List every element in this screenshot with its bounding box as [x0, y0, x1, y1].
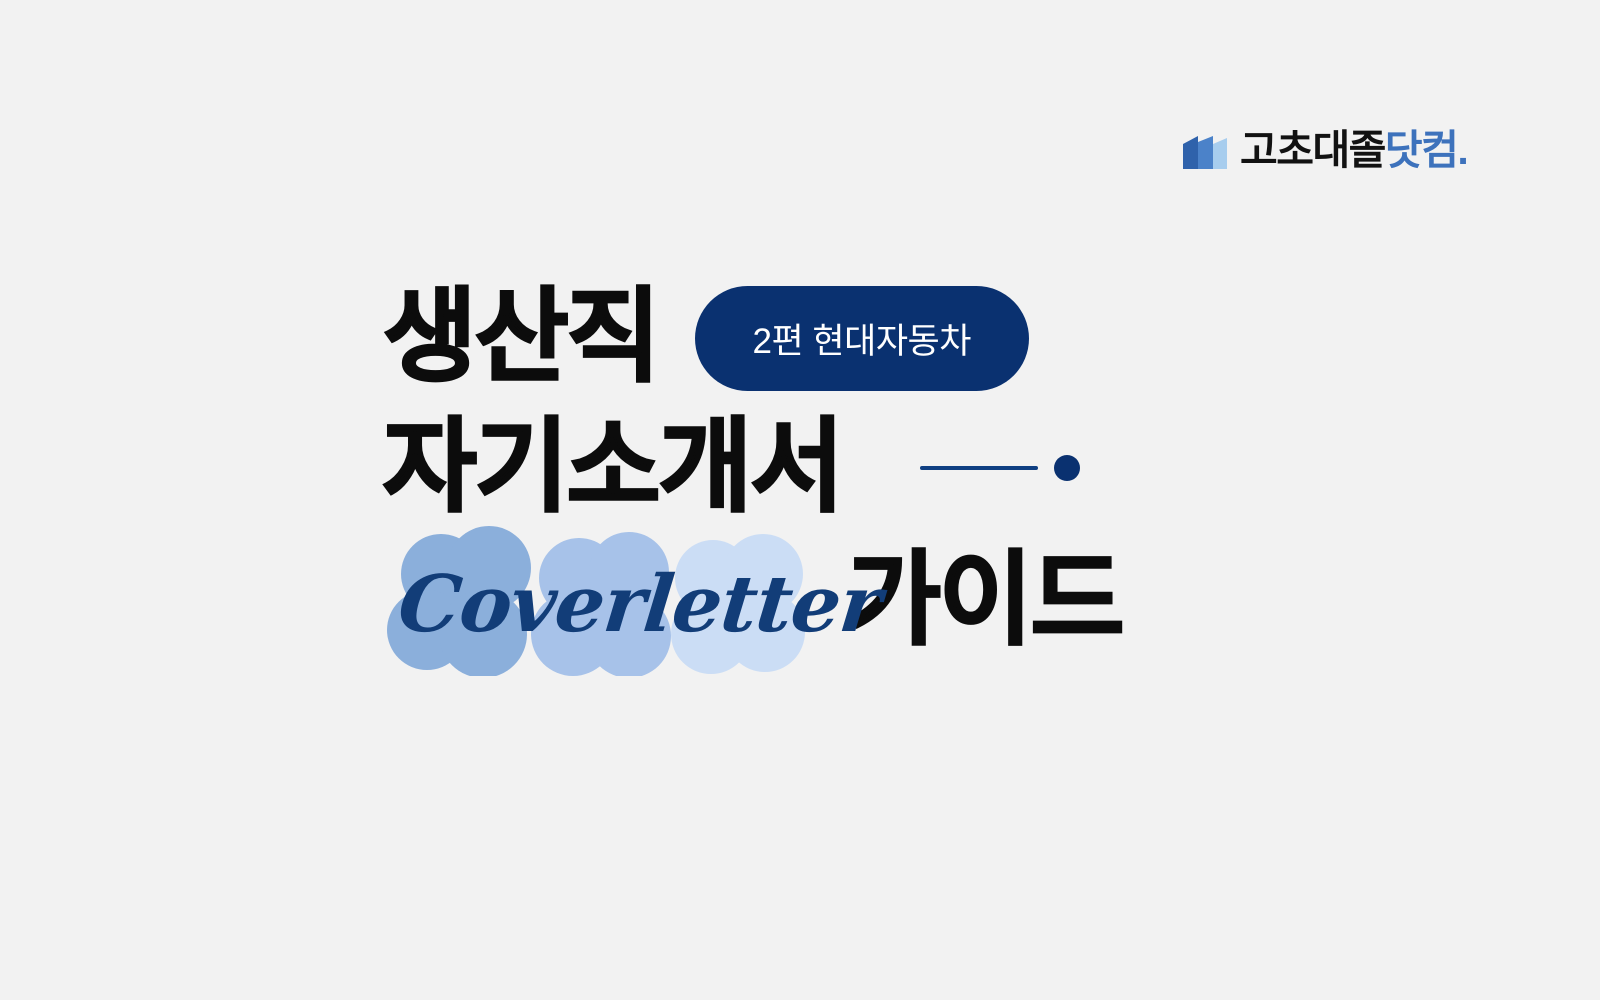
accent-dot-icon [1054, 455, 1080, 481]
factory-building-icon [1182, 130, 1228, 170]
brand-wordmark: 고초대졸닷컴. [1240, 130, 1467, 171]
episode-badge[interactable]: 2편 현대자동차 [695, 286, 1029, 391]
brand-name-dot: . [1457, 130, 1467, 171]
brand-name-dark: 고초대졸 [1240, 130, 1385, 171]
brand-name-blue: 닷컴 [1385, 130, 1457, 171]
poster-canvas: 고초대졸닷컴. 생산직 2편 현대자동차 자기소개서 [0, 0, 1600, 1000]
brand-logo[interactable]: 고초대졸닷컴. [1182, 122, 1467, 178]
headline-word-coverletter-kr: 자기소개서 [383, 417, 842, 519]
headline-word-production: 생산직 [383, 287, 659, 389]
accent-rule [920, 455, 1080, 481]
headline-word-guide: 가이드 [847, 550, 1123, 652]
headline-line-2: 자기소개서 [383, 402, 1243, 534]
headline-line-1: 생산직 2편 현대자동차 [383, 268, 1243, 408]
headline-block: 생산직 2편 현대자동차 자기소개서 [383, 268, 1243, 676]
headline-line-3: Coverletter 가이드 [383, 526, 1243, 676]
script-cloud-group: Coverletter [383, 526, 813, 676]
accent-line [920, 466, 1038, 470]
script-word-coverletter: Coverletter [391, 530, 807, 680]
